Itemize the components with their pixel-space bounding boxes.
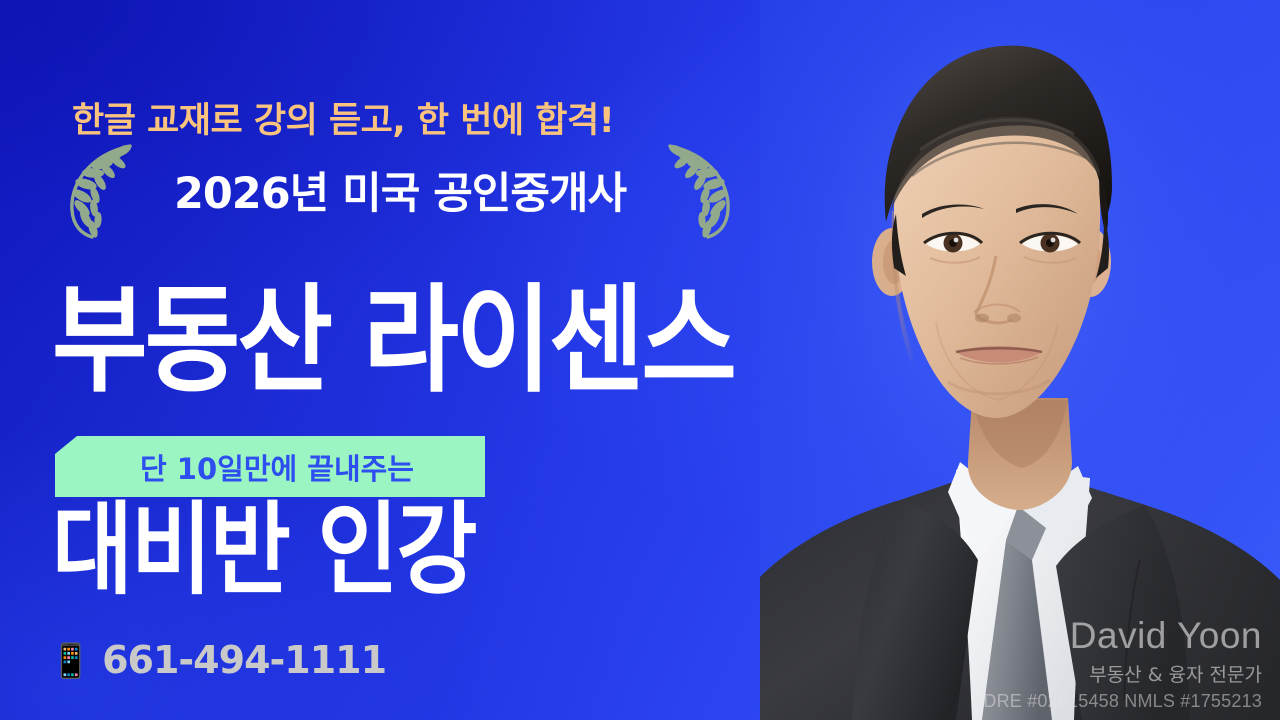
- promo-banner: 한글 교재로 강의 듣고, 한 번에 합격!: [0, 0, 1280, 720]
- agent-portrait-photo: [760, 0, 1280, 720]
- promo-year-text: 2026년 미국 공인중개사: [60, 159, 740, 221]
- laurel-wreath-right-icon: [662, 140, 740, 240]
- laurel-year-row: 2026년 미국 공인중개사: [60, 140, 740, 240]
- promo-kicker-text: 한글 교재로 강의 듣고, 한 번에 합격!: [72, 92, 614, 143]
- contact-phone-number[interactable]: 661-494-1111: [102, 638, 386, 682]
- agent-license-numbers: DRE #02015458 NMLS #1755213: [983, 691, 1262, 712]
- agent-name: David Yoon: [983, 617, 1262, 656]
- agent-signature-block: David Yoon 부동산 & 융자 전문가 DRE #02015458 NM…: [983, 617, 1262, 712]
- contact-phone-row[interactable]: 📱 661-494-1111: [50, 638, 386, 682]
- promo-subheadline-text: 대비반 인강: [52, 500, 475, 600]
- mobile-phone-icon: 📱: [50, 644, 91, 677]
- agent-role: 부동산 & 융자 전문가: [983, 660, 1262, 687]
- promo-badge: 단 10일만에 끝내주는: [55, 436, 485, 497]
- promo-headline-text: 부동산 라이센스: [52, 282, 734, 398]
- promo-badge-label: 단 10일만에 끝내주는: [126, 446, 414, 488]
- promo-text-block: 한글 교재로 강의 듣고, 한 번에 합격!: [0, 0, 800, 720]
